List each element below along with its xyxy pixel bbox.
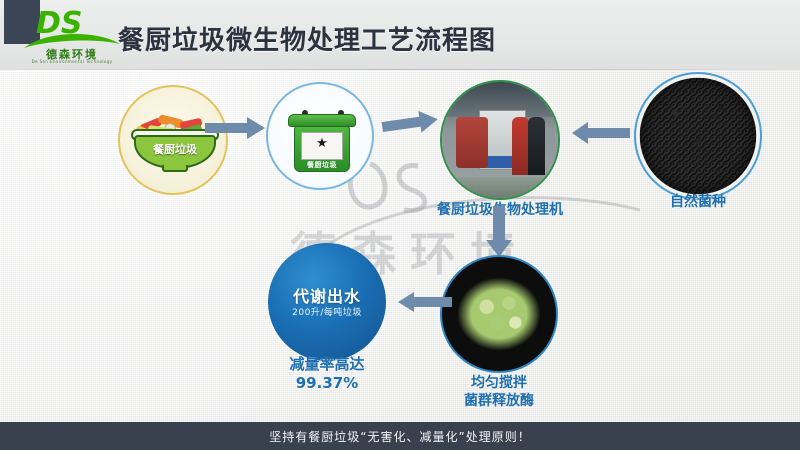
flow-node-kitchen-waste[interactable]: 餐厨垃圾 [118, 85, 228, 195]
metabolic-water-circle: 代谢出水 200升/每吨垃圾 [268, 243, 386, 361]
photo-worker [528, 117, 545, 175]
waste-bin-circle: ★ 餐厨垃圾 [266, 82, 374, 190]
flow-node-mixing-enzyme[interactable]: 均匀搅拌 菌群释放酶 [440, 255, 558, 373]
metabolic-water-inner-label: 代谢出水 [268, 283, 386, 307]
kitchen-waste-circle: 餐厨垃圾 [118, 85, 228, 195]
food-bowl-icon: 餐厨垃圾 [134, 117, 216, 173]
arrow-left-icon [398, 292, 452, 312]
arrow-right-icon [205, 117, 267, 139]
footer-slogan: 坚持有餐厨垃圾“无害化、减量化”处理原则！ [269, 428, 530, 445]
bin-waste-glyph-icon: ★ [304, 134, 340, 154]
photo-red-bin [456, 117, 488, 168]
arrow-right-up-icon [381, 108, 441, 138]
bowl-base [162, 165, 188, 172]
logo-english-name: De Sen Environmental Technology [26, 59, 118, 64]
page-title: 餐厨垃圾微生物处理工艺流程图 [118, 20, 496, 57]
slide-footer: 坚持有餐厨垃圾“无害化、减量化”处理原则！ [0, 422, 800, 450]
machine-photo-scene [442, 82, 558, 198]
natural-strain-circle [634, 72, 762, 200]
flow-node-metabolic-water[interactable]: 代谢出水 200升/每吨垃圾 减量率高达 99.37% [268, 243, 386, 361]
black-granules-image [640, 78, 757, 195]
waste-bin-inner-label: 餐厨垃圾 [294, 160, 350, 170]
bio-processor-photo [440, 80, 560, 200]
slide-canvas: DS 德森环境 De Sen Environmental Technology … [0, 0, 800, 450]
company-logo: DS 德森环境 De Sen Environmental Technology [22, 6, 122, 66]
metabolic-water-inner-sub: 200升/每吨垃圾 [268, 305, 386, 318]
natural-strain-caption: 自然菌种 [598, 194, 798, 212]
flow-node-waste-bin[interactable]: ★ 餐厨垃圾 [266, 82, 374, 190]
flow-node-bio-processor[interactable]: 餐厨垃圾生物处理机 [440, 80, 560, 200]
arrow-down-icon [486, 206, 512, 258]
slide-header: DS 德森环境 De Sen Environmental Technology … [0, 0, 800, 70]
trash-bin-icon: ★ 餐厨垃圾 [292, 106, 352, 172]
photo-worker [512, 117, 529, 175]
chopped-vegetation-image [458, 278, 540, 351]
mixing-enzyme-caption: 均匀搅拌 菌群释放酶 [399, 375, 599, 410]
photo-floor [442, 177, 558, 198]
reduction-rate-caption: 减量率高达 99.37% [227, 355, 427, 393]
mixing-enzyme-photo [440, 255, 558, 373]
flow-node-natural-strain[interactable]: 自然菌种 [634, 72, 762, 200]
arrow-left-icon [572, 122, 630, 144]
kitchen-waste-inner-label: 餐厨垃圾 [142, 141, 208, 157]
